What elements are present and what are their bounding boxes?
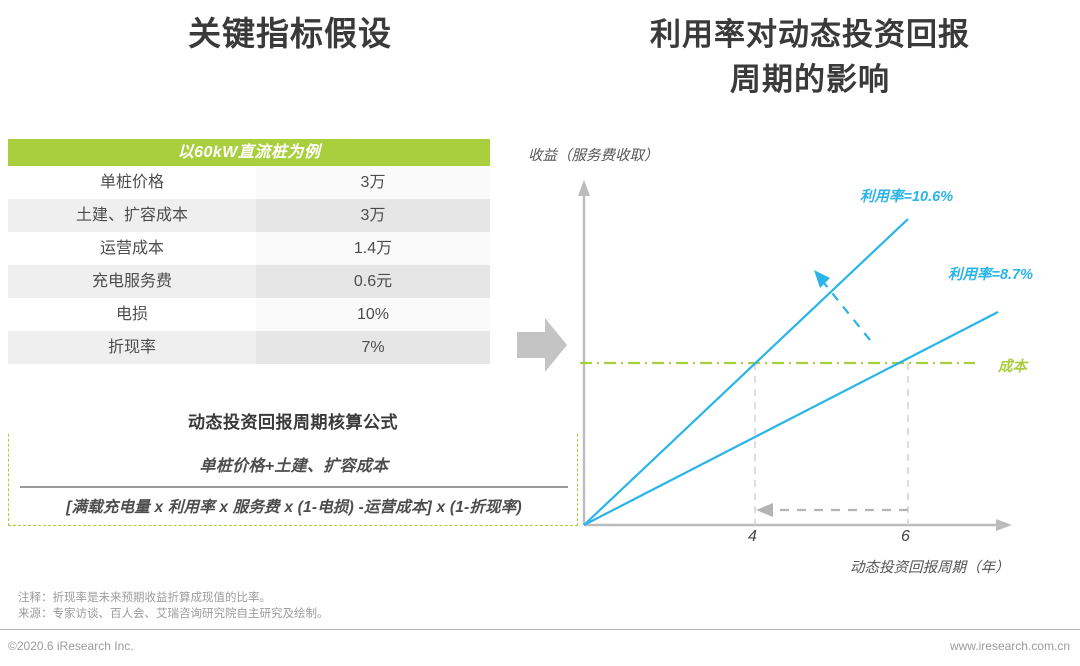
page-title-right-line1: 利用率对动态投资回报 <box>560 12 1060 57</box>
chart-callout-arrow-head <box>814 270 830 288</box>
chart-cost-label: 成本 <box>998 355 1027 376</box>
footnotes: 注释：折现率是未来预期收益折算成现值的比率。 来源：专家访谈、百人会、艾瑞咨询研… <box>18 590 329 622</box>
table-row: 充电服务费 0.6元 <box>8 265 490 298</box>
note-line-1: 注释：折现率是未来预期收益折算成现值的比率。 <box>18 590 329 606</box>
table-cell-value: 7% <box>256 331 490 364</box>
formula-denominator: [满载充电量 x 利用率 x 服务费 x (1-电损) -运营成本] x (1-… <box>20 488 568 517</box>
footer-divider <box>0 629 1080 630</box>
chart-xtick-4: 4 <box>748 528 757 546</box>
formula-numerator: 单桩价格+土建、扩容成本 <box>20 452 568 482</box>
page-title-right-line2: 周期的影响 <box>560 57 1060 102</box>
table-row: 单桩价格 3万 <box>8 166 490 199</box>
chart-payback-arrow-head <box>756 503 773 517</box>
table-row: 运营成本 1.4万 <box>8 232 490 265</box>
table-row: 土建、扩容成本 3万 <box>8 199 490 232</box>
table-cell-label: 土建、扩容成本 <box>8 199 256 232</box>
table-cell-value: 10% <box>256 298 490 331</box>
table-cell-value: 1.4万 <box>256 232 490 265</box>
chart-x-axis-label: 动态投资回报周期（年） <box>850 556 1010 577</box>
chart-series-label-8-7: 利用率=8.7% <box>948 263 1033 284</box>
table-cell-value: 0.6元 <box>256 265 490 298</box>
formula-fraction: 单桩价格+土建、扩容成本 [满载充电量 x 利用率 x 服务费 x (1-电损)… <box>20 452 568 517</box>
note-line-2: 来源：专家访谈、百人会、艾瑞咨询研究院自主研究及绘制。 <box>18 606 329 622</box>
page-title-left: 关键指标假设 <box>60 12 520 56</box>
slide-root: 关键指标假设 利用率对动态投资回报 周期的影响 以60kW直流桩为例 单桩价格 … <box>0 0 1080 666</box>
formula-title-text: 动态投资回报周期核算公式 <box>180 413 406 432</box>
footer-url[interactable]: www.iresearch.com.cn <box>950 639 1070 653</box>
chart-xtick-6: 6 <box>901 528 910 546</box>
table-cell-label: 运营成本 <box>8 232 256 265</box>
page-title-right: 利用率对动态投资回报 周期的影响 <box>560 12 1060 102</box>
table-cell-label: 电损 <box>8 298 256 331</box>
table-row: 折现率 7% <box>8 331 490 364</box>
chart-x-axis-arrowhead <box>996 519 1012 531</box>
table-cell-value: 3万 <box>256 199 490 232</box>
chart-callout-arrow-line <box>820 278 870 340</box>
table-header: 以60kW直流桩为例 <box>8 139 490 166</box>
table-row: 电损 10% <box>8 298 490 331</box>
footer-copyright: ©2020.6 iResearch Inc. <box>8 639 134 653</box>
chart-series-line-10-6 <box>584 219 908 525</box>
assumptions-table: 以60kW直流桩为例 单桩价格 3万 土建、扩容成本 3万 运营成本 1.4万 … <box>8 139 490 364</box>
chart-canvas <box>520 130 1080 560</box>
table-cell-label: 单桩价格 <box>8 166 256 199</box>
table-cell-label: 折现率 <box>8 331 256 364</box>
chart-series-label-10-6: 利用率=10.6% <box>860 185 953 206</box>
chart-y-axis-label: 收益（服务费收取） <box>528 144 659 165</box>
investment-payback-chart: 收益（服务费收取） 动态投资回报周期（年） 4 <box>520 130 1080 560</box>
chart-series-line-8-7 <box>584 312 998 525</box>
table-cell-label: 充电服务费 <box>8 265 256 298</box>
formula-title: 动态投资回报周期核算公式 <box>8 408 578 433</box>
chart-y-axis-arrowhead <box>578 180 590 196</box>
table-cell-value: 3万 <box>256 166 490 199</box>
